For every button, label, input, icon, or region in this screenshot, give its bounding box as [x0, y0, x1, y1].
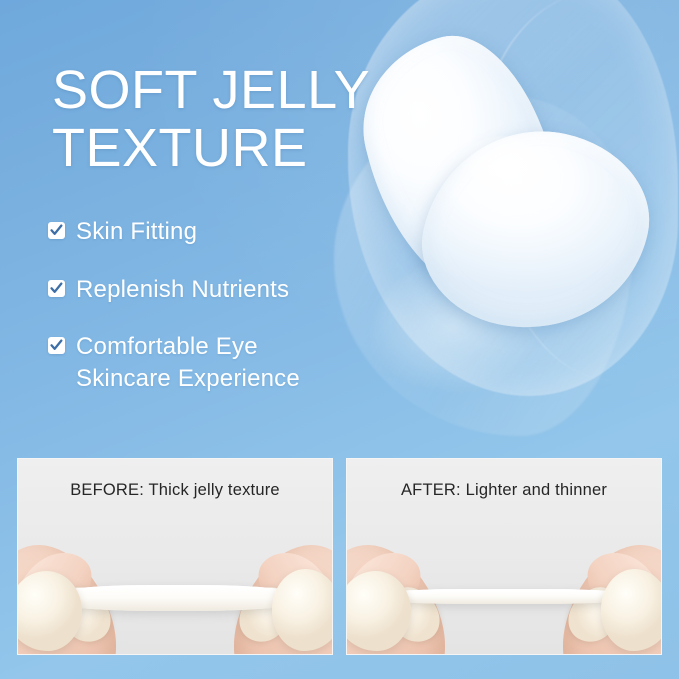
jelly-blob-right	[601, 569, 662, 651]
jelly-blob-right	[272, 569, 333, 651]
comparison-panel-after: AFTER: Lighter and thinner	[346, 458, 662, 655]
panel-caption: AFTER: Lighter and thinner	[347, 481, 661, 500]
page-title-line-1: SOFT JELLY	[52, 60, 370, 120]
product-feature-graphic: SOFT JELLY TEXTURE Skin Fitting Replenis…	[0, 0, 679, 679]
feature-label: Replenish Nutrients	[76, 274, 289, 306]
comparison-panel-before: BEFORE: Thick jelly texture	[17, 458, 333, 655]
panel-caption: BEFORE: Thick jelly texture	[18, 481, 332, 500]
feature-list-item-skin-fitting: Skin Fitting	[48, 216, 348, 248]
jelly-blob-left	[17, 571, 82, 651]
jelly-blob-left	[346, 571, 411, 651]
feature-label: Comfortable Eye Skincare Experience	[76, 331, 300, 394]
feature-list-item-replenish-nutrients: Replenish Nutrients	[48, 274, 348, 306]
checkbox-checked-icon	[48, 337, 65, 354]
feature-list: Skin Fitting Replenish Nutrients Comfort…	[48, 216, 348, 395]
page-title-line-2: TEXTURE	[52, 118, 308, 178]
comparison-panel-group: BEFORE: Thick jelly texture AFTER: Light…	[17, 458, 662, 655]
checkbox-checked-icon	[48, 280, 65, 297]
feature-label: Skin Fitting	[76, 216, 197, 248]
feature-list-item-comfortable-eye-skincare-experience: Comfortable Eye Skincare Experience	[48, 331, 348, 394]
checkbox-checked-icon	[48, 222, 65, 239]
page-title: SOFT JELLY TEXTURE	[52, 62, 392, 178]
